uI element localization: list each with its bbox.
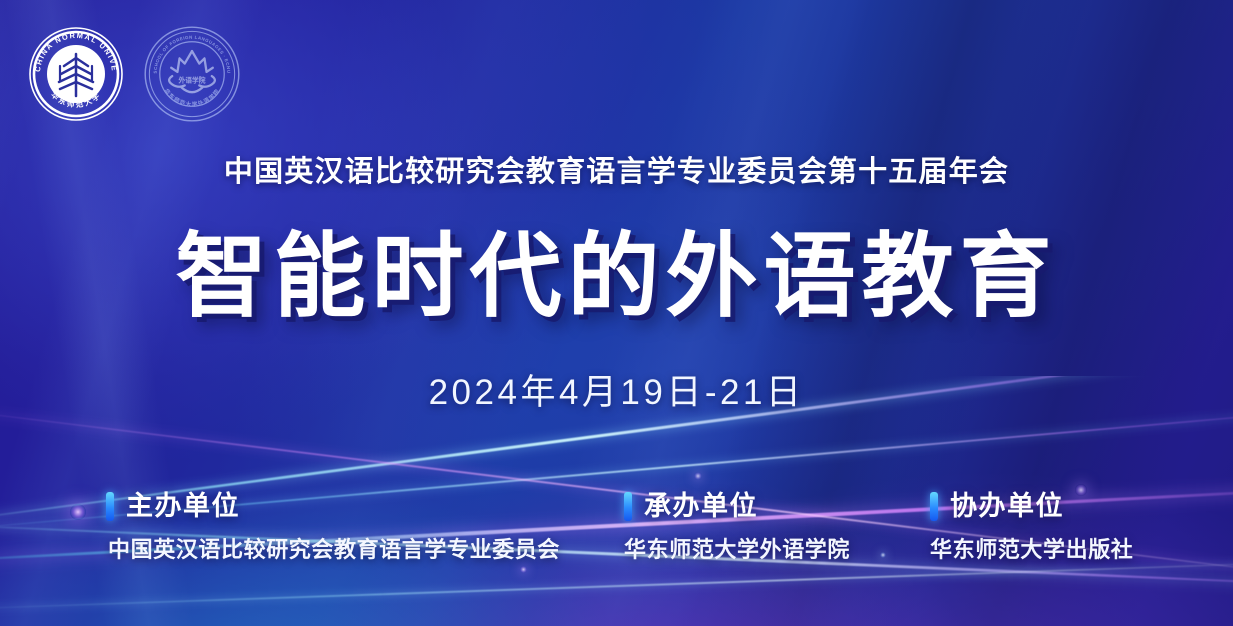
accent-bar-icon <box>624 492 632 521</box>
organizer-coorganizer-title: 协办单位 <box>950 493 1064 520</box>
organizer-undertaker: 承办单位 华东师范大学外语学院 <box>624 492 850 561</box>
organizers-row: 主办单位 中国英汉语比较研究会教育语言学专业委员会 承办单位 华东师范大学外语学… <box>0 492 1233 602</box>
school-of-foreign-languages-logo: SCHOOL OF FOREIGN LANGUAGES · ECNU 华东师范大… <box>140 22 244 126</box>
organizer-host-name: 中国英汉语比较研究会教育语言学专业委员会 <box>108 539 560 561</box>
conference-banner: EAST CHINA NORMAL UNIVERSITY 华东师范大学 <box>0 0 1233 626</box>
light-particle-icon <box>694 472 702 480</box>
svg-text:外语学院: 外语学院 <box>178 75 205 84</box>
conference-subtitle: 中国英汉语比较研究会教育语言学专业委员会第十五届年会 <box>0 158 1233 187</box>
svg-text:华东师范大学外语学院: 华东师范大学外语学院 <box>163 87 222 108</box>
organizer-undertaker-title: 承办单位 <box>644 493 758 520</box>
organizer-coorganizer: 协办单位 华东师范大学出版社 <box>930 492 1133 561</box>
logo-group: EAST CHINA NORMAL UNIVERSITY 华东师范大学 <box>26 22 244 126</box>
organizer-host-title: 主办单位 <box>126 493 240 520</box>
svg-text:SCHOOL OF FOREIGN LANGUAGES ·: SCHOOL OF FOREIGN LANGUAGES · ECNU <box>153 35 232 74</box>
accent-bar-icon <box>106 492 114 521</box>
east-china-normal-university-logo: EAST CHINA NORMAL UNIVERSITY 华东师范大学 <box>26 24 126 124</box>
conference-date: 2024年4月19日-21日 <box>0 375 1233 410</box>
organizer-host: 主办单位 中国英汉语比较研究会教育语言学专业委员会 <box>106 492 560 561</box>
accent-bar-icon <box>930 492 938 521</box>
organizer-undertaker-name: 华东师范大学外语学院 <box>624 539 850 561</box>
organizer-coorganizer-name: 华东师范大学出版社 <box>930 539 1133 561</box>
conference-headline: 智能时代的外语教育 <box>0 226 1233 329</box>
